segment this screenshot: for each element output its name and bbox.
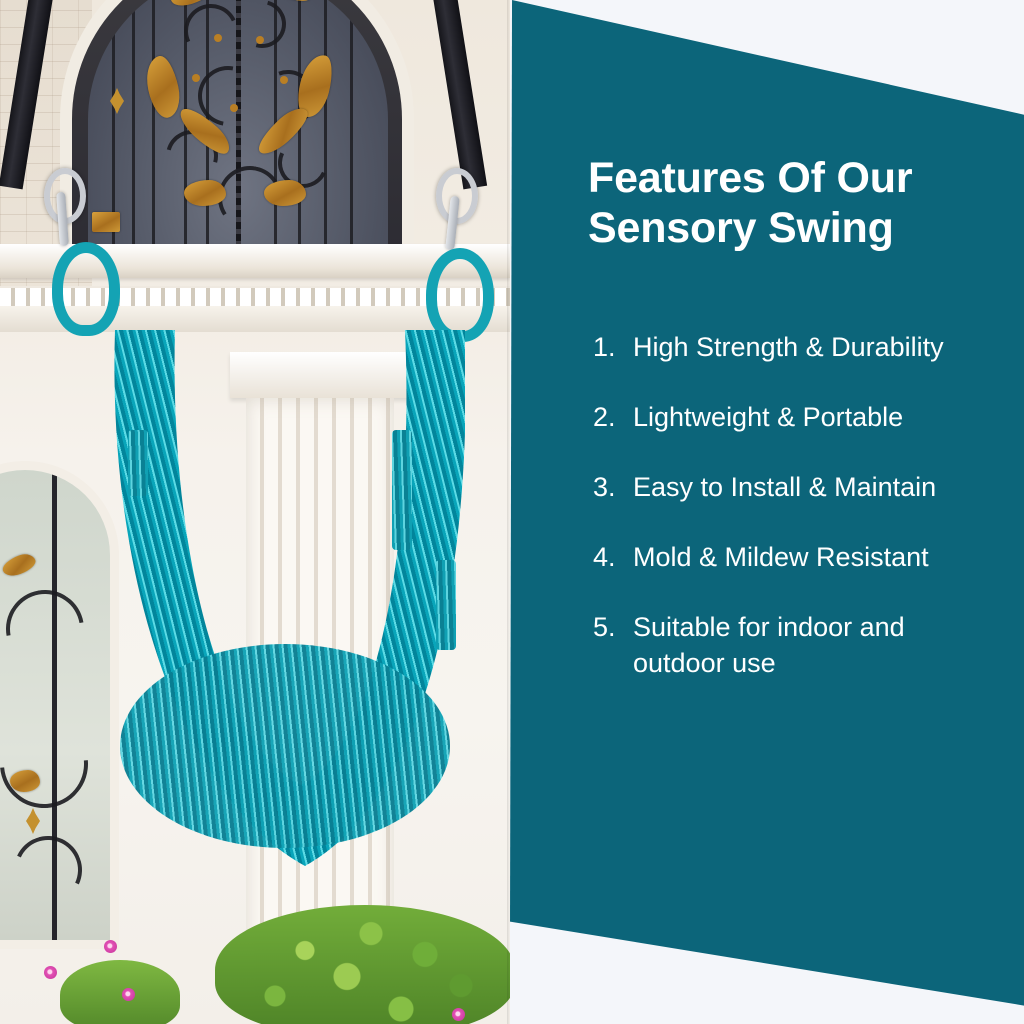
rope-tassel-mid: [392, 430, 412, 550]
pilaster-capital: [230, 352, 410, 398]
rope-tassel-left: [128, 430, 148, 496]
pink-flower: [44, 966, 57, 979]
list-item-label: High Strength & Durability: [633, 330, 962, 366]
list-item-label: Suitable for indoor and outdoor use: [633, 610, 962, 682]
pink-flower: [452, 1008, 465, 1021]
list-item-number: 5.: [590, 610, 633, 646]
product-photo: [0, 0, 510, 1024]
list-item: 3. Easy to Install & Maintain: [590, 470, 962, 506]
list-item-label: Easy to Install & Maintain: [633, 470, 962, 506]
green-bush: [215, 905, 510, 1024]
list-item-label: Lightweight & Portable: [633, 400, 962, 436]
list-item: 1. High Strength & Durability: [590, 330, 962, 366]
features-panel-content: Features Of Our Sensory Swing 1. High St…: [508, 0, 1024, 1024]
pink-flower: [122, 988, 135, 1001]
feature-list: 1. High Strength & Durability 2. Lightwe…: [590, 330, 962, 715]
list-item-label: Mold & Mildew Resistant: [633, 540, 962, 576]
infographic-canvas: Features Of Our Sensory Swing 1. High St…: [0, 0, 1024, 1024]
list-item: 4. Mold & Mildew Resistant: [590, 540, 962, 576]
small-bush: [60, 960, 180, 1024]
right-rope-loop: [426, 248, 494, 342]
wrought-iron-gate: [88, 0, 388, 245]
list-item-number: 4.: [590, 540, 633, 576]
features-panel: Features Of Our Sensory Swing 1. High St…: [508, 0, 1024, 1024]
rope-tassel-right: [436, 560, 456, 650]
list-item-number: 2.: [590, 400, 633, 436]
lower-arched-window: [0, 470, 110, 940]
gate-gold-plate: [92, 212, 120, 232]
photo-right-edge: [507, 0, 510, 1024]
left-rope-loop: [52, 242, 120, 336]
list-item-number: 1.: [590, 330, 633, 366]
pink-flower: [104, 940, 117, 953]
list-item-number: 3.: [590, 470, 633, 506]
list-item: 5. Suitable for indoor and outdoor use: [590, 610, 962, 682]
list-item: 2. Lightweight & Portable: [590, 400, 962, 436]
page-title: Features Of Our Sensory Swing: [588, 153, 918, 254]
